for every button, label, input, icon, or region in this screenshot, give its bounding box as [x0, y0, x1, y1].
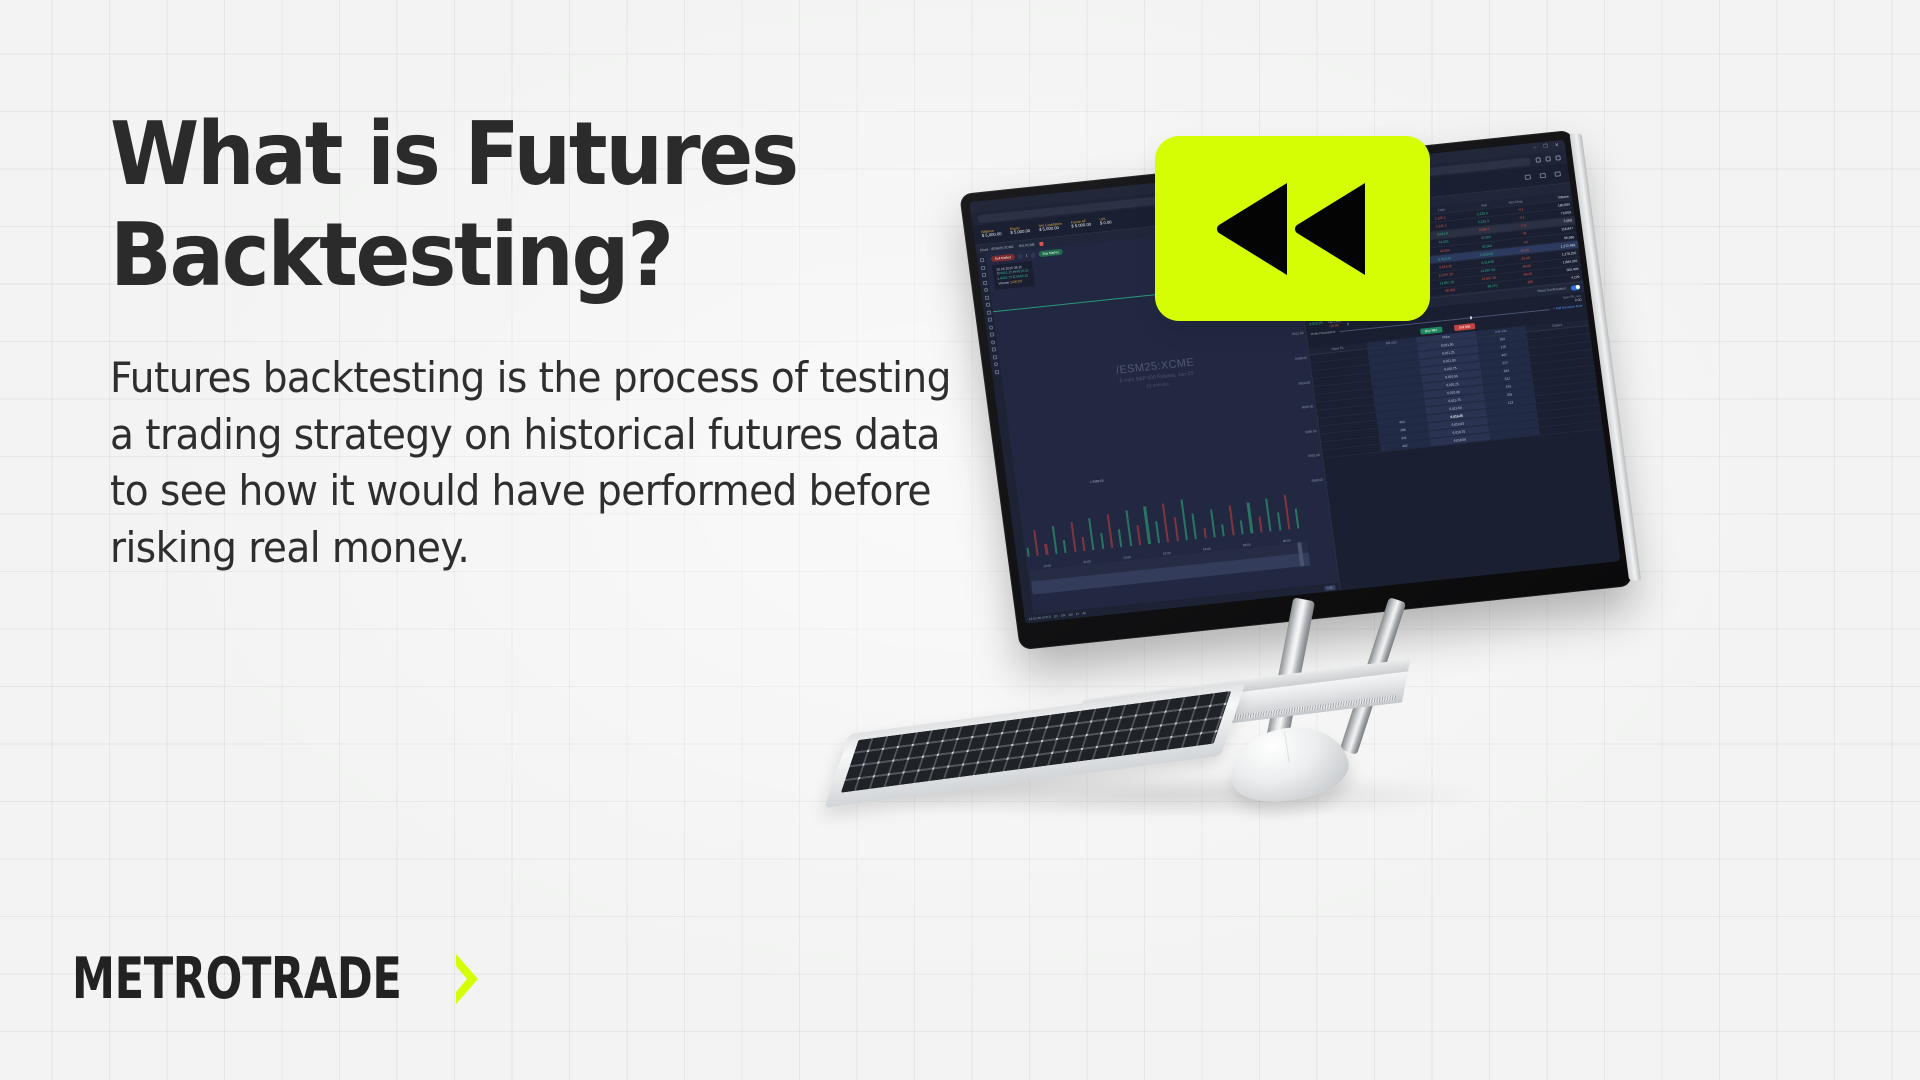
x-axis-tick: 19:00	[1043, 564, 1051, 570]
volume-bar	[1045, 544, 1048, 555]
volume-value: 1420.00	[1010, 279, 1022, 284]
zoom-icon[interactable]	[990, 340, 995, 344]
account-metric-balance: Balance $ 5,000.00	[981, 228, 1002, 239]
range-1d[interactable]: 1D	[1054, 614, 1058, 618]
trendline-icon[interactable]	[980, 265, 985, 269]
volume-bar	[1063, 540, 1067, 552]
volume-bar	[1258, 517, 1262, 533]
menu-icon[interactable]	[1554, 171, 1561, 177]
rectangle-icon[interactable]	[984, 295, 989, 299]
rewind-badge[interactable]	[1155, 136, 1430, 321]
chevron-right-icon	[452, 952, 482, 1006]
hero-copy-block: What is Futures Backtesting? Futures bac…	[110, 104, 950, 577]
star-icon[interactable]	[1535, 157, 1541, 162]
metric-value: $ 5,000.00	[1071, 223, 1091, 230]
hide-icon[interactable]	[993, 362, 998, 366]
fibonacci-icon[interactable]	[982, 280, 987, 284]
split-screen-icon[interactable]	[1545, 156, 1551, 161]
ellipse-icon[interactable]	[983, 288, 988, 292]
volume-bar	[1052, 526, 1058, 554]
session-clock: 12:52:46 UTC-5	[1029, 615, 1051, 621]
volume-bar	[1125, 511, 1132, 546]
volume-bar	[1033, 530, 1039, 556]
volume-bar	[1265, 498, 1271, 531]
y-axis-tick: 5992.00	[1308, 453, 1320, 458]
x-axis-tick: 23:00	[1123, 555, 1131, 561]
x-axis-tick: 04:00	[1203, 547, 1211, 553]
close-value: 6005.25	[1016, 274, 1028, 279]
volume-bar	[1277, 513, 1281, 531]
sell-market-button[interactable]: Sell Market	[991, 254, 1016, 262]
logo-wordmark: METROTRADE	[72, 950, 402, 1007]
grid-layout-icon[interactable]	[1539, 173, 1546, 179]
volume-bar	[1107, 514, 1114, 548]
close-icon[interactable]: ✕	[1554, 143, 1559, 148]
mouse-seam	[1284, 733, 1290, 763]
stat-value: 6,019.25	[1309, 320, 1323, 326]
account-metric-equity: Equity $ 5,000.00	[1010, 225, 1031, 236]
x-axis-tick: 02:00	[1163, 551, 1171, 557]
volume-bar	[1180, 499, 1188, 540]
account-metric-upl: UPL $ 0.00	[1099, 216, 1112, 226]
volume-bar	[1210, 510, 1216, 537]
buy-mkt-button[interactable]: Buy Mkt	[1420, 326, 1443, 334]
y-axis-tick: 6000.00	[1302, 404, 1314, 409]
dom-stat-price: 6,019.25	[1309, 320, 1323, 326]
range-1y[interactable]: 1Y	[1075, 612, 1079, 616]
volume-bar	[1240, 520, 1244, 534]
maximize-icon[interactable]: ❐	[1543, 144, 1548, 149]
trash-icon[interactable]	[994, 370, 999, 374]
show-confirmation-toggle[interactable]	[1571, 285, 1581, 290]
volume-bar	[1070, 522, 1076, 552]
order-quantity[interactable]: 1	[1026, 253, 1028, 257]
x-axis-tick: 21:00	[1083, 560, 1091, 566]
ray-icon[interactable]	[981, 273, 986, 277]
y-axis-tick: 5988.00	[1311, 478, 1323, 483]
range-1w[interactable]: 1W	[1061, 613, 1066, 617]
minimize-icon[interactable]: –	[1533, 146, 1536, 151]
increment-qty-button[interactable]	[1030, 252, 1036, 257]
account-metric-future-af: Future AF $ 5,000.00	[1071, 219, 1092, 230]
range-all[interactable]: All	[1082, 611, 1086, 615]
eyedropper-icon[interactable]	[991, 347, 996, 351]
volume-bar	[1173, 517, 1178, 541]
text-icon[interactable]	[989, 332, 994, 336]
volume-bar	[1118, 529, 1122, 547]
overview-area	[1031, 553, 1310, 595]
volume-bar	[1192, 514, 1197, 540]
brand-logo[interactable]: METROTRADE	[72, 952, 482, 1006]
brush-icon[interactable]	[985, 303, 990, 307]
lock-icon[interactable]	[992, 355, 997, 359]
volume-bar	[1026, 548, 1029, 557]
ohlc-tooltip: 20.06.2025 08:15 O 6001.25 H 6019.25 L 6…	[992, 261, 1035, 290]
log-scale-toggle[interactable]: Log	[1324, 584, 1336, 590]
measure-icon[interactable]	[987, 318, 992, 322]
volume-bar	[1155, 521, 1160, 543]
volume-bar	[1284, 494, 1291, 529]
range-1m[interactable]: 1M	[1068, 613, 1073, 617]
y-axis-tick: 5996.00	[1305, 429, 1317, 434]
crosshair-icon[interactable]	[979, 258, 984, 262]
volume-label: Volume	[998, 281, 1009, 286]
hero-description: Futures backtesting is the process of te…	[110, 350, 975, 577]
metric-value: $ 5,000.00	[982, 232, 1002, 239]
volume-bar	[1100, 533, 1104, 549]
decrement-qty-button[interactable]	[1018, 253, 1024, 258]
sell-mkt-button[interactable]: Sell Mkt	[1453, 323, 1475, 331]
chart-symbol-box[interactable]: /ES:XCME	[1018, 242, 1035, 248]
volume-bar	[1221, 524, 1225, 536]
layout-icon[interactable]	[1525, 174, 1532, 180]
page-title: What is Futures Backtesting?	[110, 104, 891, 306]
y-axis-tick: 6004.00	[1298, 380, 1310, 385]
volume-bar	[1137, 525, 1142, 545]
x-axis-tick: 08:00	[1283, 539, 1291, 545]
x-axis-tick: 06:00	[1243, 543, 1251, 549]
y-axis-tick: 6012.00	[1292, 331, 1304, 336]
metric-value: $ 5,000.00	[1010, 229, 1030, 236]
metric-value: $ 5,000.00	[1039, 226, 1063, 233]
rewind-icon	[1213, 177, 1373, 281]
buy-market-button[interactable]: Buy Market	[1038, 249, 1063, 257]
y-axis-tick: 6008.00	[1295, 356, 1307, 361]
volume-bar	[1162, 503, 1169, 542]
volume-bar	[1247, 502, 1253, 533]
volume-bar	[1144, 507, 1151, 544]
dom-ladder[interactable]: Open PL Bid size Price Ask size Orders 6…	[1309, 319, 1621, 590]
volume-bar	[1088, 518, 1094, 550]
volume-bar	[1228, 506, 1234, 535]
cell-open-pl	[1323, 448, 1380, 454]
extensions-icon[interactable]	[1555, 155, 1561, 160]
volume-bar	[1295, 509, 1300, 528]
arrow-icon[interactable]	[986, 310, 991, 314]
volume-bar	[1203, 528, 1206, 538]
metric-value: $ 0.00	[1100, 221, 1112, 227]
account-metric-net-liquidation: Net Liquidation $ 5,000.00	[1038, 222, 1062, 233]
magnet-icon[interactable]	[988, 325, 993, 329]
record-indicator-icon	[1039, 241, 1044, 245]
volume-bar	[1081, 537, 1085, 551]
